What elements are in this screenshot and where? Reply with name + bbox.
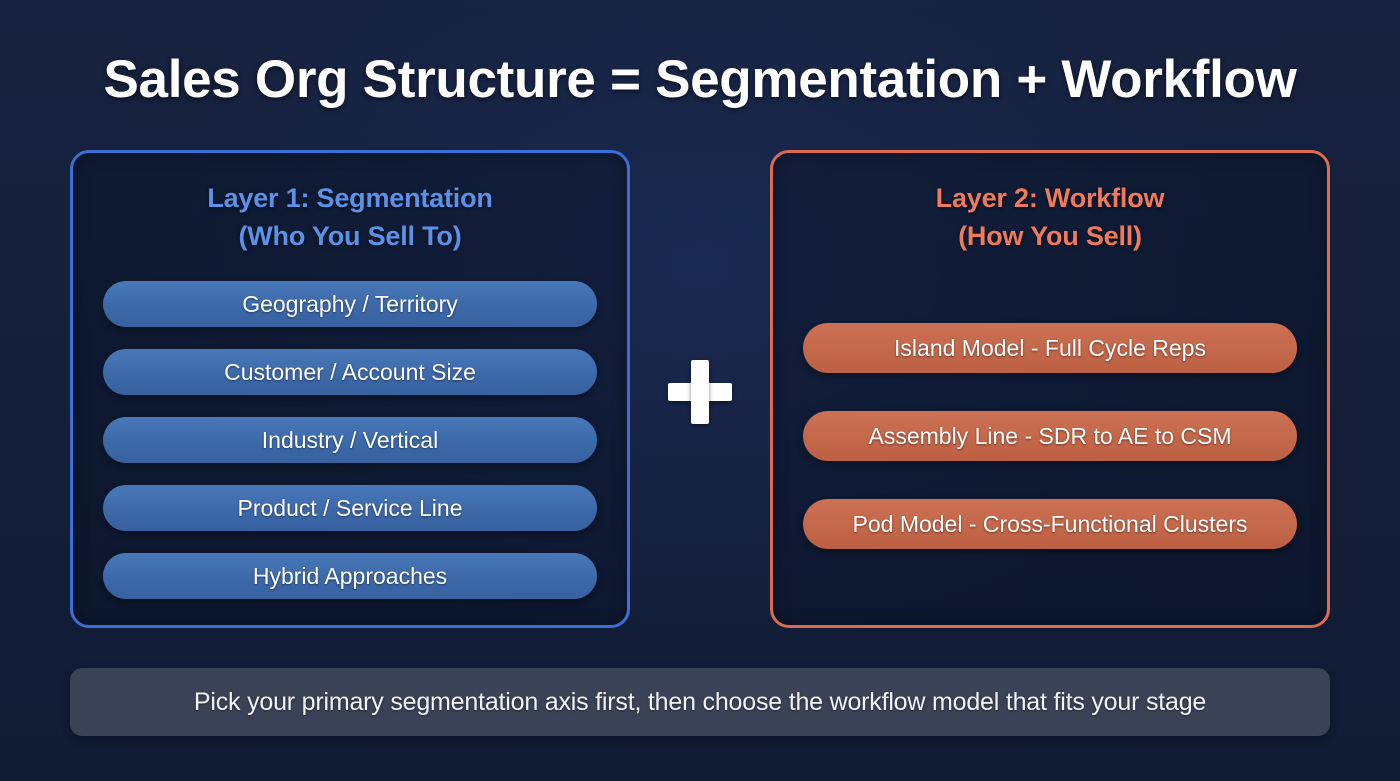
workflow-option-assembly-line[interactable]: Assembly Line - SDR to AE to CSM — [803, 411, 1297, 461]
panel-right-heading-line2: (How You Sell) — [773, 217, 1327, 255]
list-item-label: Customer / Account Size — [224, 359, 476, 386]
footer-callout-text: Pick your primary segmentation axis firs… — [194, 688, 1206, 717]
segmentation-option-industry[interactable]: Industry / Vertical — [103, 417, 597, 463]
panel-left-heading-line1: Layer 1: Segmentation — [73, 179, 627, 217]
list-item-label: Pod Model - Cross-Functional Clusters — [853, 511, 1248, 538]
list-item-label: Industry / Vertical — [262, 427, 438, 454]
segmentation-option-product-line[interactable]: Product / Service Line — [103, 485, 597, 531]
page-title: Sales Org Structure = Segmentation + Wor… — [0, 50, 1400, 109]
panel-layer-2-workflow: Layer 2: Workflow (How You Sell) Island … — [770, 150, 1330, 628]
plus-icon — [668, 360, 732, 424]
workflow-option-pod-model[interactable]: Pod Model - Cross-Functional Clusters — [803, 499, 1297, 549]
workflow-option-list: Island Model - Full Cycle Reps Assembly … — [773, 323, 1327, 549]
panel-left-heading: Layer 1: Segmentation (Who You Sell To) — [73, 179, 627, 256]
plus-icon-vertical-bar — [691, 360, 709, 424]
segmentation-option-hybrid[interactable]: Hybrid Approaches — [103, 553, 597, 599]
slide-canvas: Sales Org Structure = Segmentation + Wor… — [0, 0, 1400, 781]
list-item-label: Geography / Territory — [242, 291, 458, 318]
panel-right-heading: Layer 2: Workflow (How You Sell) — [773, 179, 1327, 256]
list-item-label: Product / Service Line — [237, 495, 462, 522]
list-item-label: Hybrid Approaches — [253, 563, 447, 590]
footer-callout: Pick your primary segmentation axis firs… — [70, 668, 1330, 736]
segmentation-option-customer-size[interactable]: Customer / Account Size — [103, 349, 597, 395]
segmentation-option-geography[interactable]: Geography / Territory — [103, 281, 597, 327]
list-item-label: Assembly Line - SDR to AE to CSM — [868, 423, 1231, 450]
page-title-text: Sales Org Structure = Segmentation + Wor… — [103, 50, 1296, 109]
workflow-option-island-model[interactable]: Island Model - Full Cycle Reps — [803, 323, 1297, 373]
panel-left-heading-line2: (Who You Sell To) — [73, 217, 627, 255]
panel-layer-1-segmentation: Layer 1: Segmentation (Who You Sell To) … — [70, 150, 630, 628]
list-item-label: Island Model - Full Cycle Reps — [894, 335, 1206, 362]
panel-right-heading-line1: Layer 2: Workflow — [773, 179, 1327, 217]
segmentation-option-list: Geography / Territory Customer / Account… — [73, 281, 627, 599]
